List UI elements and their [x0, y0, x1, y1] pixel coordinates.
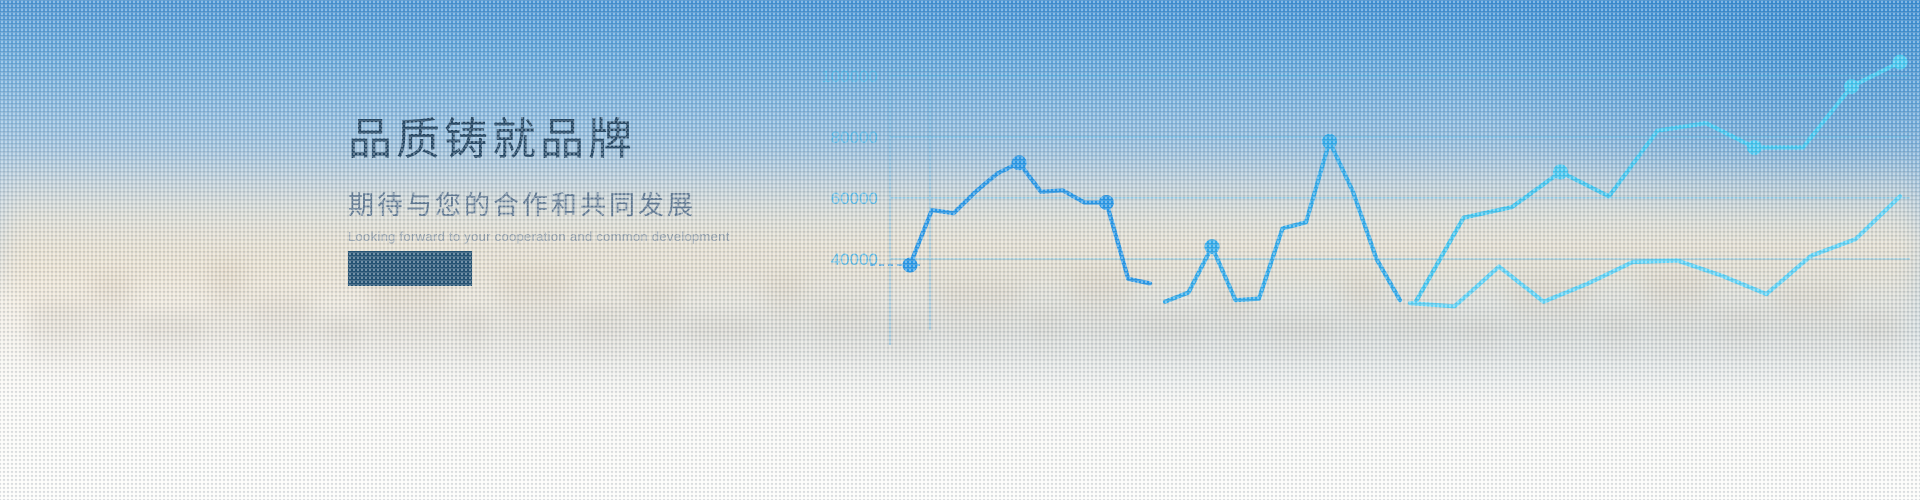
scanline-overlay	[0, 0, 1920, 500]
hero-banner: 100000800006000040000 品质铸就品牌 期待与您的合作和共同发…	[0, 0, 1920, 500]
